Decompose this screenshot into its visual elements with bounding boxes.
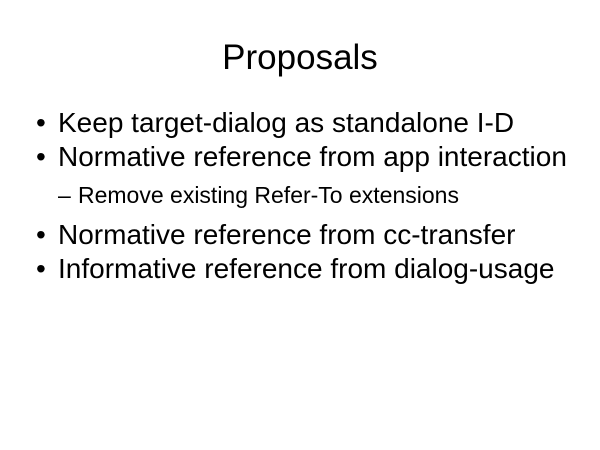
list-item-label: Normative reference from cc-transfer bbox=[58, 218, 600, 252]
list-item: • Keep target-dialog as standalone I-D bbox=[0, 106, 600, 140]
list-item-label: Normative reference from app interaction bbox=[58, 140, 600, 174]
bullet-dot-icon: • bbox=[36, 218, 52, 252]
list-item-label: Keep target-dialog as standalone I-D bbox=[58, 106, 600, 140]
bullet-dash-icon: – bbox=[58, 180, 76, 210]
bullet-dot-icon: • bbox=[36, 252, 52, 286]
page-title: Proposals bbox=[0, 38, 600, 78]
list-item: • Normative reference from cc-transfer bbox=[0, 218, 600, 252]
list-item-label: Informative reference from dialog-usage bbox=[58, 252, 600, 286]
presentation-slide: Proposals • Keep target-dialog as standa… bbox=[0, 0, 600, 450]
bullet-list: • Keep target-dialog as standalone I-D •… bbox=[0, 106, 600, 286]
sub-list-item-label: Remove existing Refer-To extensions bbox=[78, 180, 600, 210]
bullet-dot-icon: • bbox=[36, 140, 52, 174]
bullet-dot-icon: • bbox=[36, 106, 52, 140]
sub-list-item: – Remove existing Refer-To extensions bbox=[0, 180, 600, 210]
list-item: • Normative reference from app interacti… bbox=[0, 140, 600, 174]
list-item: • Informative reference from dialog-usag… bbox=[0, 252, 600, 286]
